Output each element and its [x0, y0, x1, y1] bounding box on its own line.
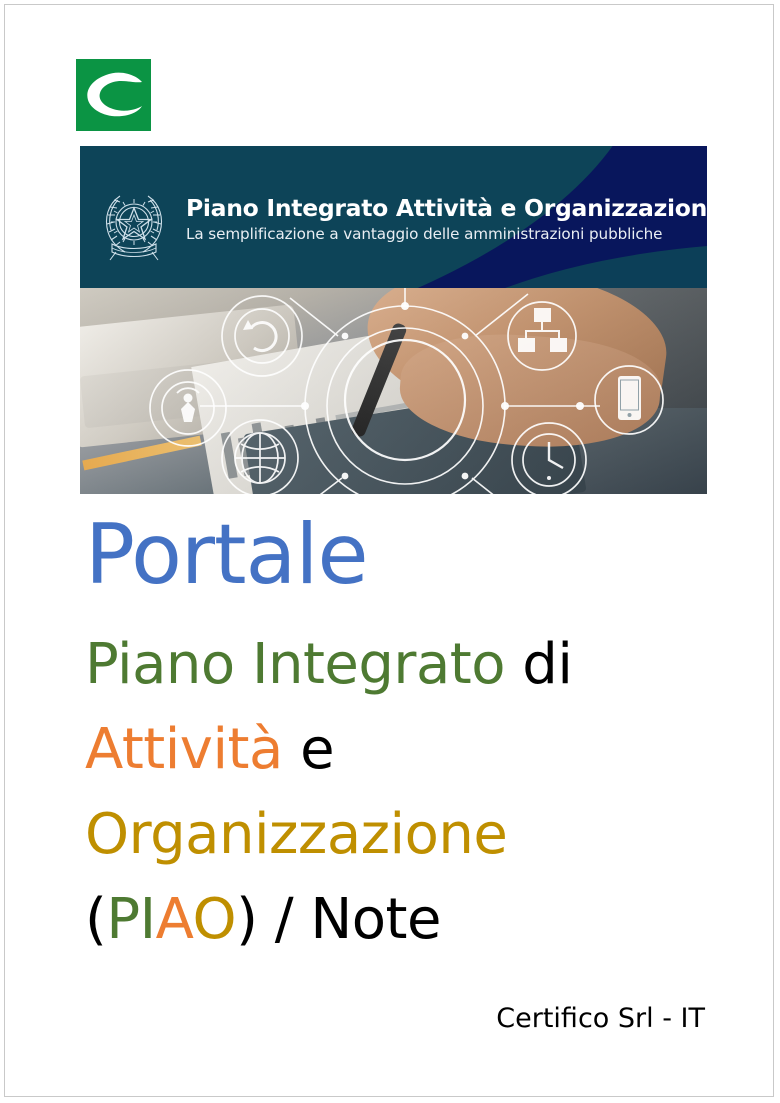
publisher-credit: Certifico Srl - IT: [85, 1003, 705, 1034]
subtitle-line-2: Attività e: [85, 707, 705, 792]
recycle-circle-icon: [222, 296, 302, 376]
certifico-logo: [76, 59, 151, 131]
clock-icon: [512, 423, 586, 494]
subtitle-line-1-black: di: [505, 632, 572, 697]
piao-a: A: [156, 887, 193, 952]
piao-paren-close: ): [236, 887, 257, 952]
subtitle-line-3: Organizzazione: [85, 792, 705, 877]
page-title: Portale: [85, 513, 705, 596]
subtitle-line-2-orange: Attività: [85, 717, 283, 782]
banner-title: Piano Integrato Attività e Organizzazion…: [186, 196, 686, 221]
banner-text-block: Piano Integrato Attività e Organizzazion…: [186, 196, 686, 244]
piao-banner: Piano Integrato Attività e Organizzazion…: [80, 146, 707, 494]
cover-title-block: Portale Piano Integrato di Attività e Or…: [85, 513, 705, 962]
piao-pi: PI: [106, 887, 155, 952]
italian-republic-emblem: [98, 182, 170, 264]
subtitle-line-1: Piano Integrato di: [85, 622, 705, 707]
wifi-antenna-icon: [150, 370, 226, 446]
photo-hud-overlay: [80, 288, 707, 494]
piao-paren-open: (: [85, 887, 106, 952]
subtitle-line-1-green: Piano Integrato: [85, 632, 505, 697]
globe-icon: [222, 420, 298, 494]
subtitle-line-2-black: e: [283, 717, 334, 782]
piao-o: O: [192, 887, 236, 952]
smartphone-icon: [595, 366, 663, 434]
page-frame: Piano Integrato Attività e Organizzazion…: [4, 4, 774, 1097]
banner-header: Piano Integrato Attività e Organizzazion…: [80, 146, 707, 288]
banner-photo: [80, 288, 707, 494]
subtitle-line-3-gold: Organizzazione: [85, 802, 507, 867]
piao-note-suffix: / Note: [257, 887, 441, 952]
logo-c-icon: [84, 72, 144, 118]
subtitle-line-4: (PIAO) / Note: [85, 877, 705, 962]
network-icon: [508, 302, 576, 370]
banner-subtitle: La semplificazione a vantaggio delle amm…: [186, 225, 686, 243]
